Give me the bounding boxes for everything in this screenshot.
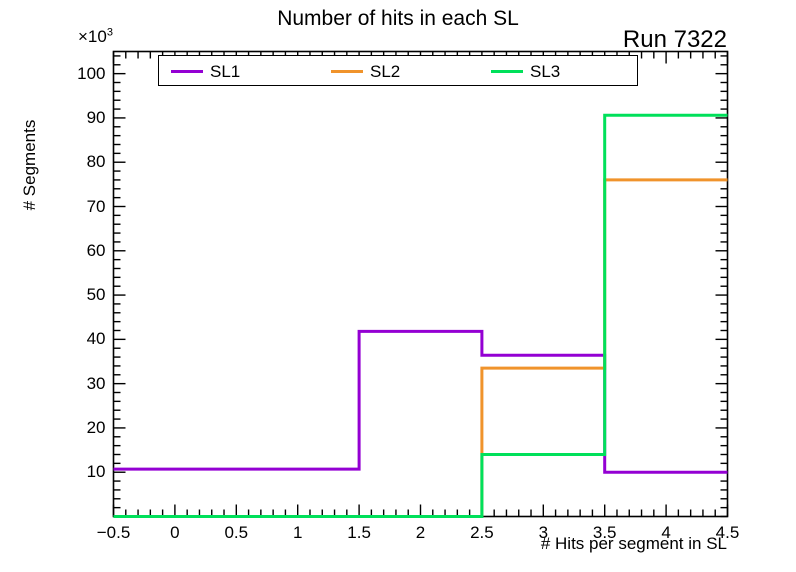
legend-entry-sl2[interactable]: SL2 [331,56,400,87]
y-axis-title: # Segments [20,90,40,240]
y-tick-label: 80 [46,152,106,171]
x-tick-label: −0.5 [84,523,144,542]
histogram-series-layer [114,115,728,516]
series-line-sl3 [114,115,728,516]
y-tick-label: 10 [46,462,106,481]
y-axis-multiplier-exponent: 3 [107,26,113,38]
y-axis-multiplier: ×103 [78,27,113,47]
legend-swatch-icon [491,70,523,73]
y-tick-label: 20 [46,418,106,437]
x-tick-label: 2 [391,523,451,542]
y-tick-label: 50 [46,285,106,304]
legend-label: SL1 [210,62,240,81]
legend-entry-sl1[interactable]: SL1 [171,56,240,87]
y-axis-multiplier-base: ×10 [78,27,107,46]
x-tick-label: 0 [145,523,205,542]
legend-swatch-icon [171,70,203,73]
x-axis-ticks [114,52,728,517]
x-tick-label: 4.5 [698,523,758,542]
series-line-sl2 [114,180,728,517]
x-tick-label: 2.5 [452,523,512,542]
x-tick-label: 4 [636,523,696,542]
axis-frame [114,52,728,517]
legend-label: SL3 [530,62,560,81]
y-tick-label: 70 [46,197,106,216]
x-tick-label: 1.5 [329,523,389,542]
y-tick-label: 90 [46,108,106,127]
x-tick-label: 3 [513,523,573,542]
y-tick-label: 30 [46,374,106,393]
y-tick-label: 100 [46,64,106,83]
legend: SL1SL2SL3 [158,55,638,86]
series-line-sl1 [114,331,728,472]
legend-label: SL2 [370,62,400,81]
x-tick-label: 1 [268,523,328,542]
legend-entry-sl3[interactable]: SL3 [491,56,560,87]
y-axis-ticks [114,56,728,517]
run-label: Run 7322 [623,26,727,54]
x-tick-label: 0.5 [206,523,266,542]
y-tick-label: 40 [46,329,106,348]
y-tick-label: 60 [46,241,106,260]
legend-swatch-icon [331,70,363,73]
x-tick-label: 3.5 [575,523,635,542]
plot-canvas: Number of hits in each SL Run 7322 ×103 … [0,0,796,572]
